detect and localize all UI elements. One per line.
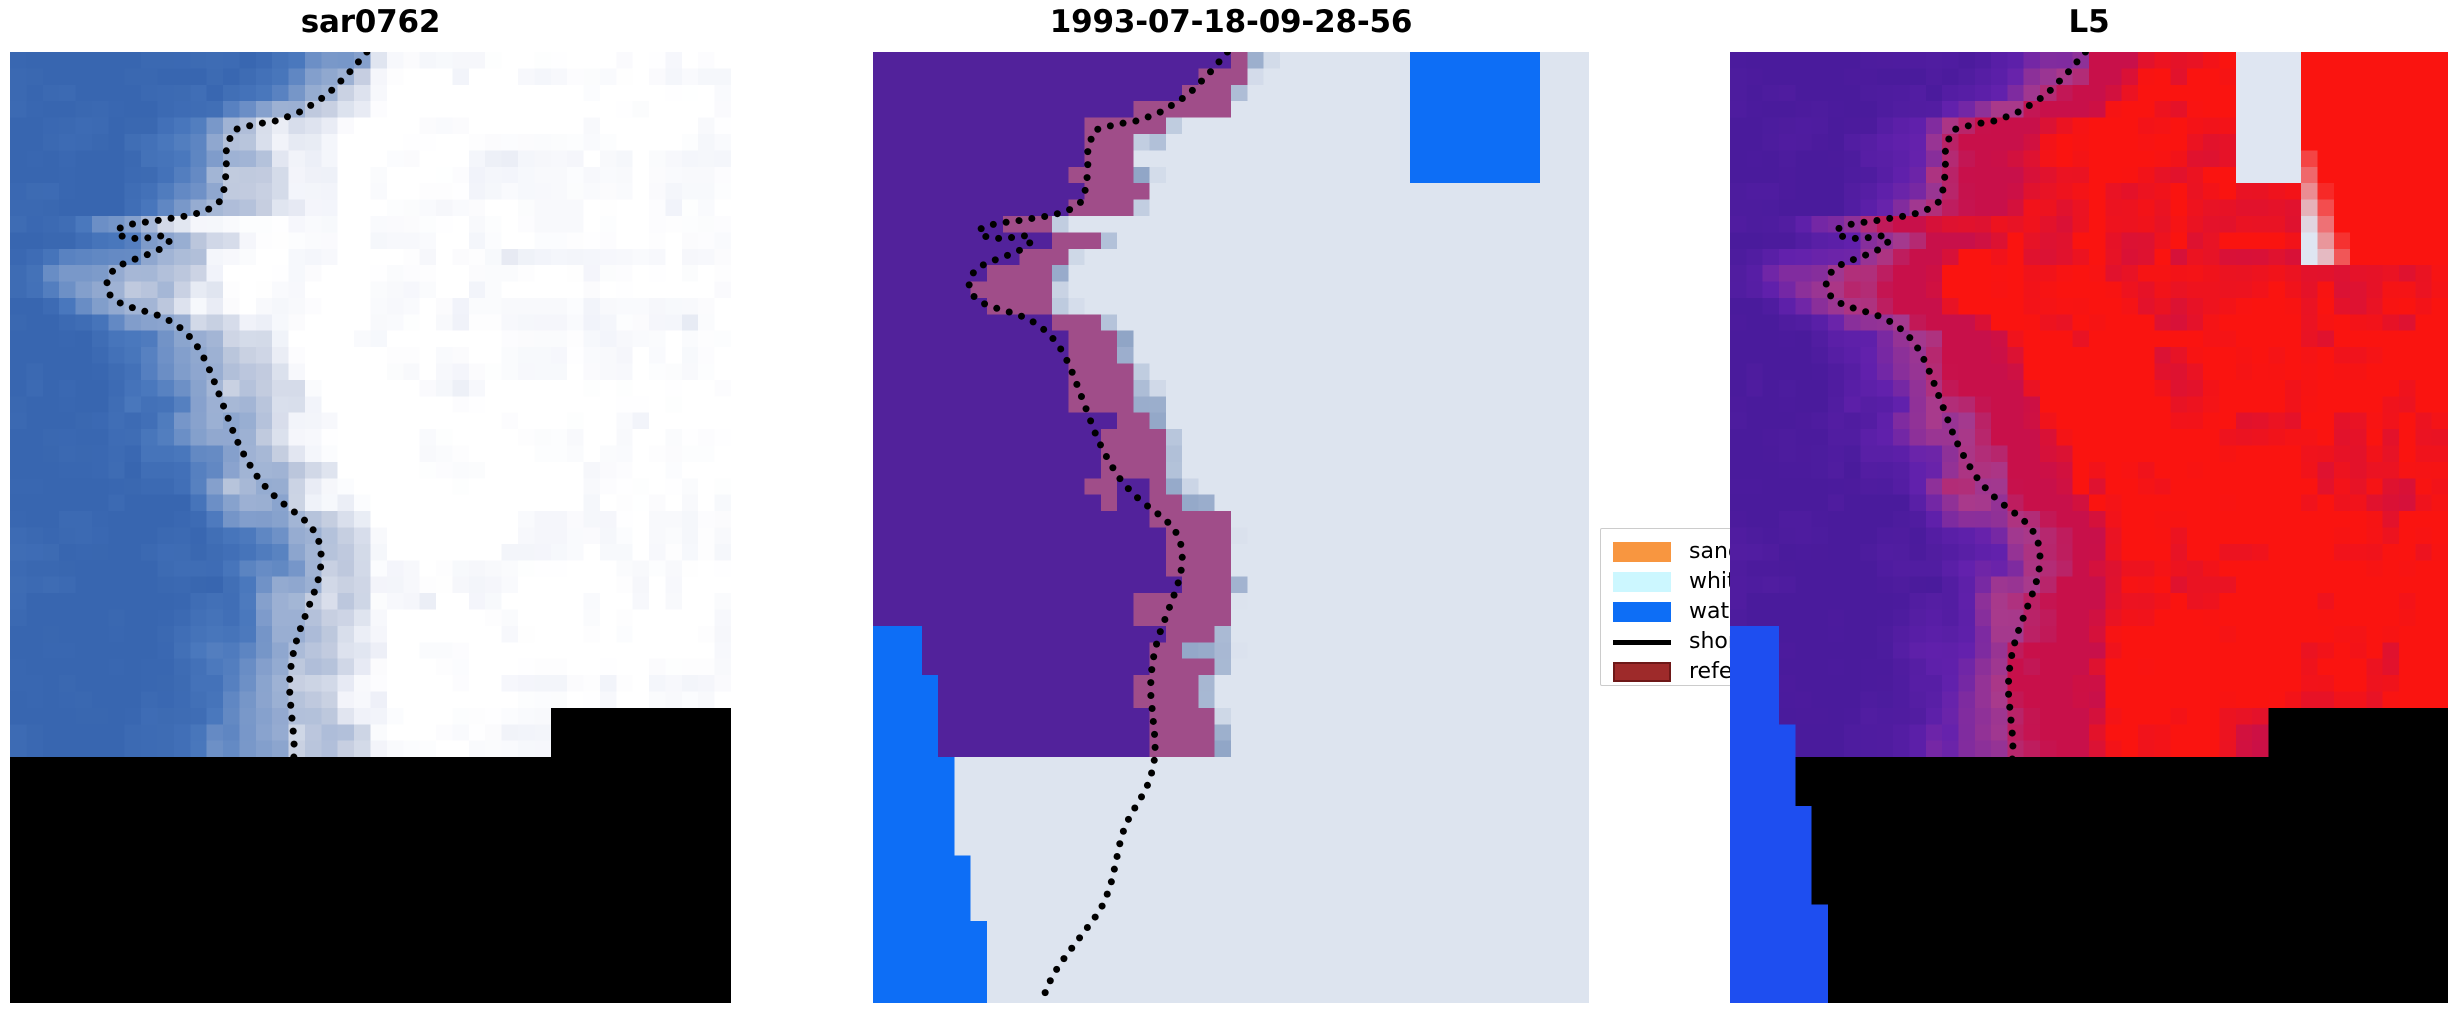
panel-sar0762 (10, 52, 731, 1003)
panel-title-l5: L5 (1730, 4, 2448, 40)
legend-label-reference-shoreline: reference shoreline (1689, 661, 1730, 683)
legend-item-shoreline: shoreline (1613, 627, 1730, 657)
whitewater-swatch-icon (1613, 572, 1671, 592)
l5-raster-image (1730, 52, 2448, 1003)
figure-canvas: sar0762 1993-07-18-09-28-56 L5 sand whit… (0, 0, 2460, 1021)
legend-clip-region: sand whitewater water shoreline referenc… (1600, 528, 1730, 706)
legend-label-water: water (1689, 601, 1730, 623)
legend[interactable]: sand whitewater water shoreline referenc… (1600, 528, 1730, 686)
legend-item-water: water (1613, 597, 1730, 627)
reference-shoreline-swatch-icon (1613, 662, 1671, 682)
legend-label-whitewater: whitewater (1689, 571, 1730, 593)
legend-label-sand: sand (1689, 541, 1730, 563)
sar-raster-image (10, 52, 731, 1003)
panel-classified (873, 52, 1589, 1003)
water-swatch-icon (1613, 602, 1671, 622)
legend-item-whitewater: whitewater (1613, 567, 1730, 597)
legend-label-shoreline: shoreline (1689, 631, 1730, 653)
sand-swatch-icon (1613, 542, 1671, 562)
classified-raster-image (873, 52, 1589, 1003)
legend-item-reference-shoreline: reference shoreline (1613, 657, 1730, 686)
panel-l5 (1730, 52, 2448, 1003)
shoreline-line-icon (1613, 640, 1671, 645)
legend-item-sand: sand (1613, 537, 1730, 567)
panel-title-sar: sar0762 (10, 4, 731, 40)
panel-title-classified: 1993-07-18-09-28-56 (873, 4, 1589, 40)
